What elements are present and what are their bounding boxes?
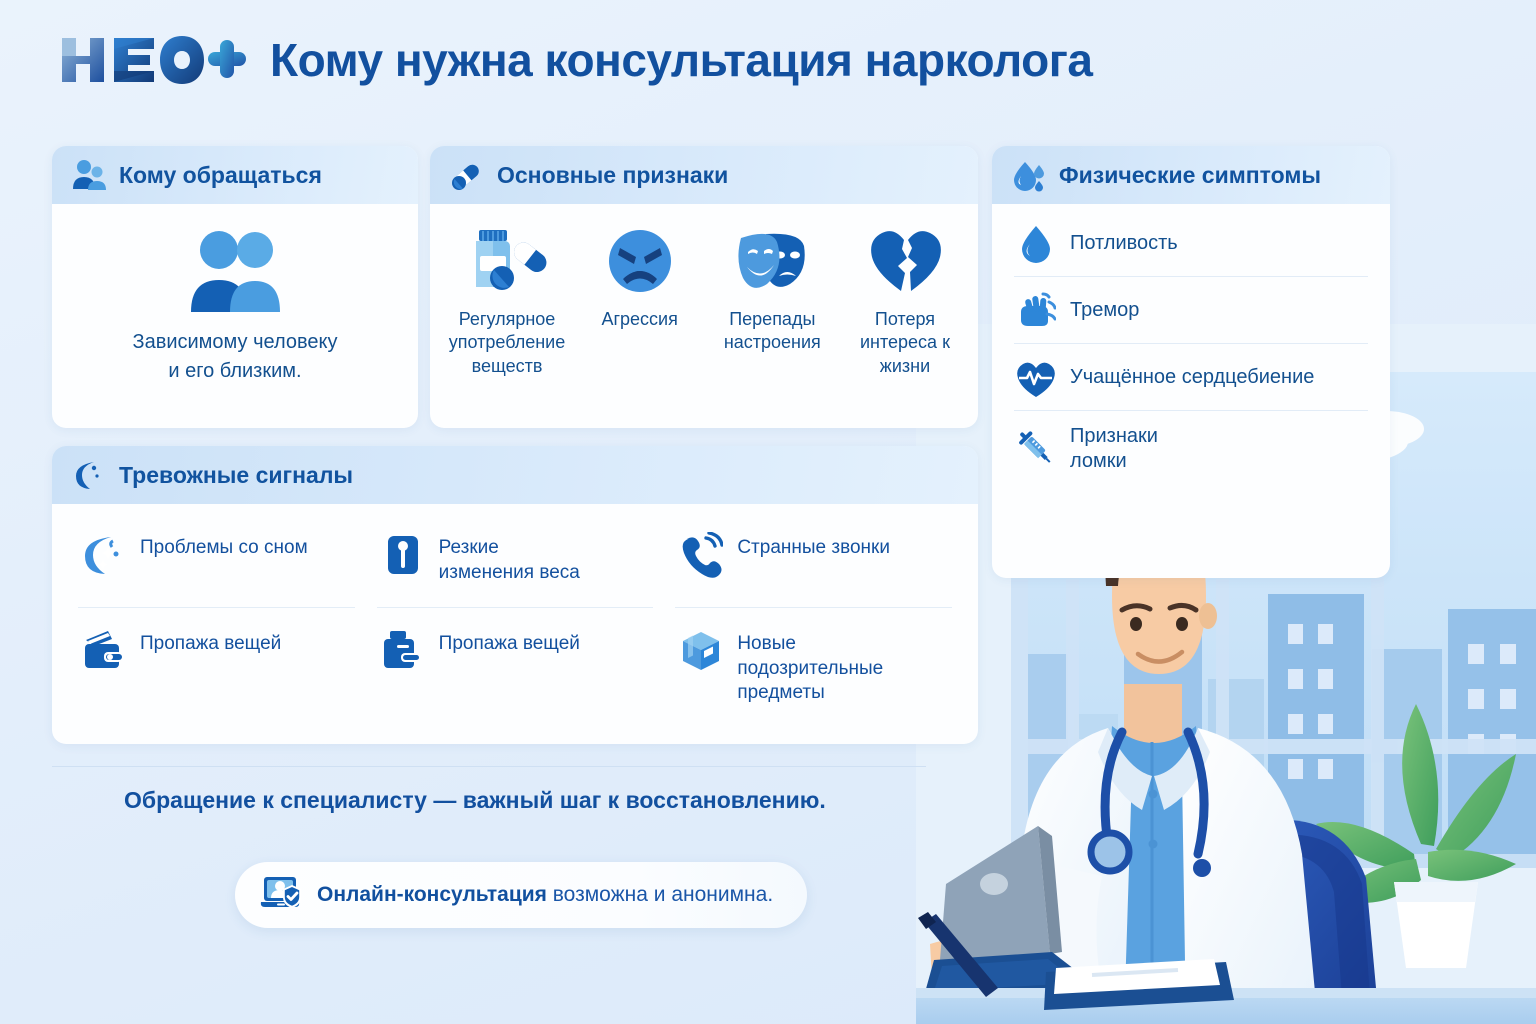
- physical-label: Тремор: [1070, 298, 1139, 323]
- card-who-text: Зависимому человеку и его близким.: [133, 328, 338, 386]
- sign-label: Агрессия: [601, 308, 677, 331]
- shaking-hand-icon: [1016, 290, 1056, 330]
- physical-label: Признаки ломки: [1070, 424, 1158, 474]
- weight-scale-icon: [381, 532, 425, 578]
- physical-label: Учащённое сердцебиение: [1070, 365, 1314, 390]
- angry-face-icon: [600, 224, 680, 298]
- doctor: [930, 502, 1318, 1024]
- page-title: Кому нужна консультация нарколога: [270, 33, 1092, 87]
- physical-row: Тремор: [1014, 277, 1368, 344]
- who-line-1: Зависимому человеку: [133, 331, 338, 353]
- sign-label: Регулярное употребление веществ: [446, 308, 568, 378]
- laptop-verified-user-icon: [259, 875, 303, 915]
- warn-line1: Резкие: [439, 537, 499, 558]
- warning-label: Резкие изменения веса: [439, 530, 580, 585]
- clipboard: [1044, 959, 1234, 1010]
- warning-label: Новые подозрительные предметы: [737, 626, 883, 706]
- box-icon: [679, 628, 723, 674]
- theater-masks-icon: [732, 224, 812, 298]
- warn-line2: подозрительные: [737, 658, 883, 679]
- pills-icon: [450, 158, 484, 192]
- card-warning-title: Тревожные сигналы: [119, 462, 353, 489]
- laptop: [924, 826, 1096, 996]
- card-warning-signals: Тревожные сигналы Проблемы со сном: [52, 446, 978, 744]
- card-who-to-contact: Кому обращаться Зависимому человеку и ег…: [52, 146, 418, 428]
- physical-row: Потливость: [1014, 210, 1368, 277]
- syringe-icon: [1016, 429, 1056, 469]
- badge-text: Онлайн-консультация возможна и анонимна.: [317, 883, 773, 907]
- phys-label-line1: Признаки: [1070, 425, 1158, 447]
- warning-label: Странные звонки: [737, 530, 890, 561]
- physical-row: Признаки ломки: [1014, 411, 1368, 487]
- warning-item: Резкие изменения веса: [377, 512, 654, 608]
- warning-label: Проблемы со сном: [140, 530, 308, 561]
- physical-label: Потливость: [1070, 231, 1178, 256]
- bag-icon: [381, 628, 425, 674]
- warning-item: Странные звонки: [675, 512, 952, 608]
- heart-pulse-icon: [1016, 357, 1056, 397]
- plant: [1316, 704, 1516, 968]
- warning-item: Новые подозрительные предметы: [675, 608, 952, 722]
- water-drops-icon: [1012, 158, 1046, 192]
- who-line-2: и его близким.: [168, 360, 301, 382]
- badge-strong-text: Онлайн-консультация: [317, 883, 547, 906]
- two-people-icon: [183, 228, 287, 314]
- city-buildings: [1016, 594, 1536, 864]
- warning-item: Пропажа вещей: [377, 608, 654, 722]
- warning-item: Пропажа вещей: [78, 608, 355, 722]
- card-warning-header: Тревожные сигналы: [52, 446, 978, 504]
- card-signs-title: Основные признаки: [497, 162, 728, 189]
- broken-heart-icon: [865, 224, 945, 298]
- wallet-icon: [82, 628, 126, 674]
- pill-bottle-icon: [467, 224, 547, 298]
- office-chair: [1228, 820, 1378, 1010]
- physical-row: Учащённое сердцебиение: [1014, 344, 1368, 411]
- page-header: Кому нужна консультация нарколога: [58, 32, 1092, 88]
- card-main-signs: Основные признаки Регулярное употреблени…: [430, 146, 978, 428]
- sign-label: Потеря интереса к жизни: [844, 308, 966, 378]
- sign-label: Перепады настроения: [711, 308, 833, 355]
- pen: [918, 912, 998, 997]
- sign-item: Регулярное употребление веществ: [446, 224, 568, 378]
- tagline-text: Обращение к специалисту — важный шаг к в…: [52, 787, 926, 814]
- warn-line1: Новые: [737, 633, 796, 654]
- warn-line3: предметы: [737, 682, 824, 703]
- sign-item: Потеря интереса к жизни: [844, 224, 966, 378]
- desk: [916, 996, 1536, 1024]
- stethoscope: [1105, 732, 1204, 854]
- warning-label: Пропажа вещей: [439, 626, 580, 657]
- card-physical-symptoms: Физические симптомы Потливость: [992, 146, 1390, 578]
- people-icon: [72, 158, 106, 192]
- phone-call-icon: [679, 532, 723, 578]
- badge-rest-text: возможна и анонимна.: [547, 883, 773, 906]
- phys-label-line2: ломки: [1070, 450, 1127, 472]
- sign-item: Перепады настроения: [711, 224, 833, 378]
- online-consultation-badge: Онлайн-консультация возможна и анонимна.: [235, 862, 807, 928]
- warning-item: Проблемы со сном: [78, 512, 355, 608]
- moon-stars-icon: [82, 532, 126, 578]
- card-signs-header: Основные признаки: [430, 146, 978, 204]
- moon-icon: [72, 458, 106, 492]
- warning-label: Пропажа вещей: [140, 626, 281, 657]
- card-who-title: Кому обращаться: [119, 162, 322, 189]
- card-who-header: Кому обращаться: [52, 146, 418, 204]
- droplet-icon: [1016, 223, 1056, 263]
- tagline-section: Обращение к специалисту — важный шаг к в…: [52, 766, 926, 814]
- warn-line2: изменения веса: [439, 562, 580, 583]
- card-physical-title: Физические симптомы: [1059, 162, 1321, 189]
- card-physical-header: Физические симптомы: [992, 146, 1390, 204]
- neo-plus-logo: [58, 32, 248, 88]
- sign-item: Агрессия: [579, 224, 701, 378]
